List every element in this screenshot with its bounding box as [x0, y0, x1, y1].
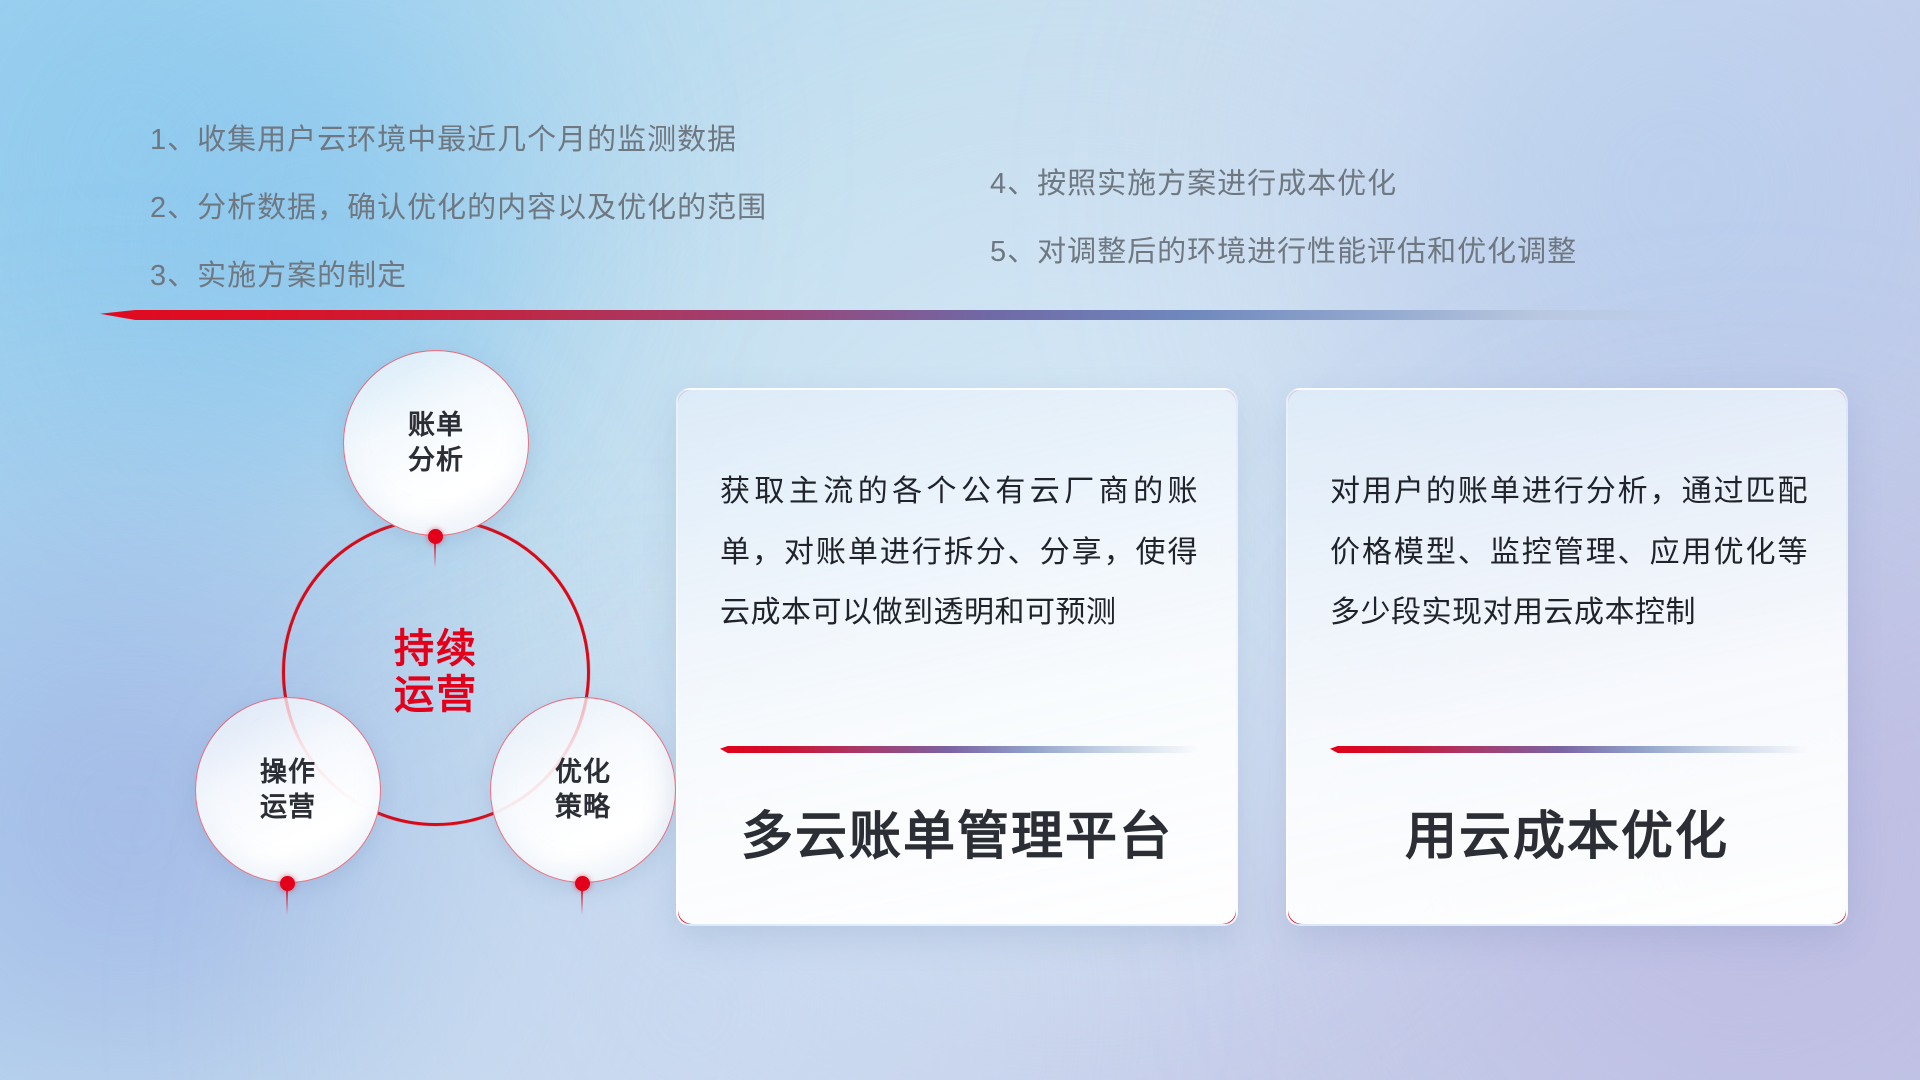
cycle-marker-dot-bottom-right — [575, 876, 590, 891]
feature-card-body: 对用户的账单进行分析，通过匹配价格模型、监控管理、应用优化等多少段实现对用云成本… — [1330, 462, 1808, 644]
cycle-node-bill-analysis[interactable]: 账单 分析 — [343, 350, 529, 536]
cycle-center-label-line1: 持续 — [394, 626, 478, 672]
cycle-marker-dot-bottom-left — [280, 876, 295, 891]
step-item-1: 1、收集用户云环境中最近几个月的监测数据 — [150, 116, 767, 158]
cycle-node-operation-line2: 运营 — [260, 790, 316, 825]
step-item-2: 2、分析数据，确认优化的内容以及优化的范围 — [150, 184, 767, 226]
feature-card-cloud-cost-optimization[interactable]: 对用户的账单进行分析，通过匹配价格模型、监控管理、应用优化等多少段实现对用云成本… — [1286, 388, 1848, 926]
cycle-node-bill-analysis-line1: 账单 — [408, 408, 464, 443]
feature-card-divider — [720, 746, 1198, 753]
feature-card-title: 多云账单管理平台 — [678, 794, 1236, 869]
cycle-node-optimization-strategy-line1: 优化 — [555, 755, 611, 790]
cycle-node-operation[interactable]: 操作 运营 — [195, 697, 381, 883]
step-item-4: 4、按照实施方案进行成本优化 — [990, 160, 1577, 202]
feature-card-multi-cloud-billing[interactable]: 获取主流的各个公有云厂商的账单，对账单进行拆分、分享，使得云成本可以做到透明和可… — [676, 388, 1238, 926]
section-divider — [100, 310, 1700, 324]
cycle-node-optimization-strategy[interactable]: 优化 策略 — [490, 697, 676, 883]
steps-list-right: 4、按照实施方案进行成本优化 5、对调整后的环境进行性能评估和优化调整 — [990, 160, 1577, 296]
section-divider-bar — [100, 310, 1700, 320]
cycle-node-optimization-strategy-line2: 策略 — [555, 790, 611, 825]
cycle-diagram: 持续 运营 账单 分析 操作 运营 优化 策略 — [100, 350, 660, 950]
cycle-marker-tail-bottom-right — [581, 889, 583, 915]
step-item-5: 5、对调整后的环境进行性能评估和优化调整 — [990, 228, 1577, 270]
cycle-marker-tail-bottom-left — [286, 889, 288, 915]
cycle-node-bill-analysis-line2: 分析 — [408, 443, 464, 478]
feature-card-divider — [1330, 746, 1808, 753]
slide-canvas: 1、收集用户云环境中最近几个月的监测数据 2、分析数据，确认优化的内容以及优化的… — [0, 0, 1920, 1080]
feature-card-body: 获取主流的各个公有云厂商的账单，对账单进行拆分、分享，使得云成本可以做到透明和可… — [720, 462, 1198, 644]
cycle-node-operation-line1: 操作 — [260, 755, 316, 790]
step-item-3: 3、实施方案的制定 — [150, 252, 767, 294]
cycle-marker-dot-top — [428, 529, 443, 544]
cycle-marker-tail-top — [434, 542, 436, 568]
cycle-center-label-line2: 运营 — [394, 672, 478, 718]
feature-card-title: 用云成本优化 — [1288, 794, 1846, 869]
steps-list-left: 1、收集用户云环境中最近几个月的监测数据 2、分析数据，确认优化的内容以及优化的… — [150, 116, 767, 320]
